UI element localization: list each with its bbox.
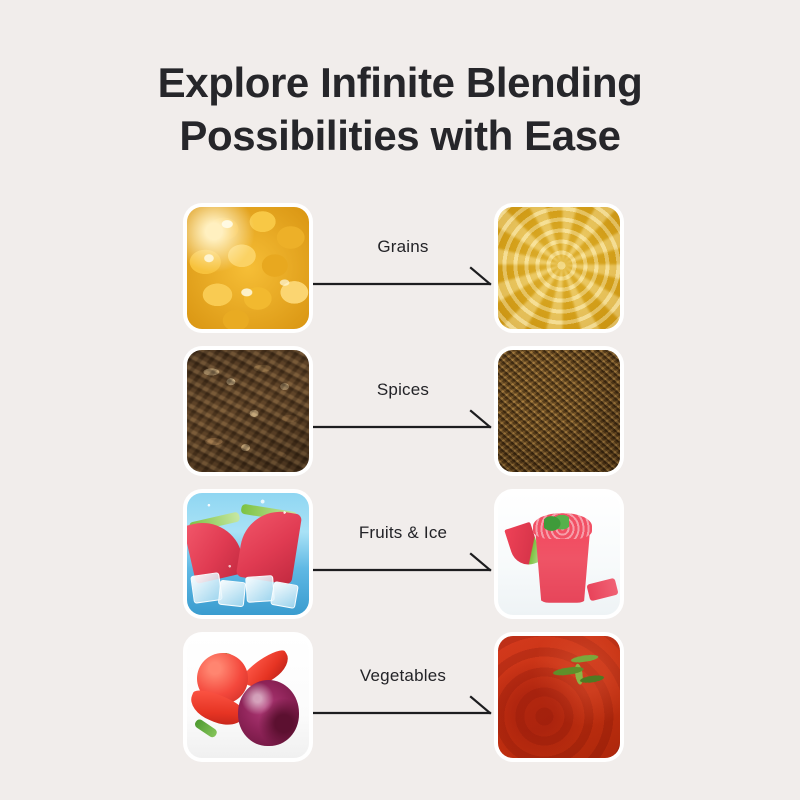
transform-connector: Spices	[313, 350, 493, 472]
watermelon-slush-photo	[498, 493, 620, 615]
row-label-grains: Grains	[313, 237, 493, 257]
ingredient-rows: Grains Spices	[0, 207, 800, 779]
promo-graphic: Explore Infinite Blending Possibilities …	[0, 0, 800, 800]
watermelon-with-ice-photo	[187, 493, 309, 615]
transform-connector: Fruits & Ice	[313, 493, 493, 615]
output-image-watermelon-slush	[498, 493, 620, 615]
output-image-spice-powder	[498, 350, 620, 472]
page-title-line-2: Possibilities with Ease	[0, 109, 800, 162]
ground-spice-powder-photo	[498, 350, 620, 472]
row-label-vegetables: Vegetables	[313, 666, 493, 686]
output-image-corn-flour	[498, 207, 620, 329]
transform-connector: Vegetables	[313, 636, 493, 758]
corn-kernels-photo	[187, 207, 309, 329]
page-title: Explore Infinite Blending Possibilities …	[0, 56, 800, 163]
tomato-chili-onion-photo	[187, 636, 309, 758]
input-image-vegetables	[187, 636, 309, 758]
right-arrow-icon	[313, 408, 493, 434]
row-label-fruits-ice: Fruits & Ice	[313, 523, 493, 543]
tomato-sauce-photo	[498, 636, 620, 758]
right-arrow-icon	[313, 551, 493, 577]
whole-cloves-photo	[187, 350, 309, 472]
right-arrow-icon	[313, 265, 493, 291]
input-image-whole-cloves	[187, 350, 309, 472]
row-label-spices: Spices	[313, 380, 493, 400]
ingredient-row: Grains	[0, 207, 800, 329]
input-image-corn-kernels	[187, 207, 309, 329]
corn-flour-photo	[498, 207, 620, 329]
page-title-line-1: Explore Infinite Blending	[0, 56, 800, 109]
output-image-tomato-sauce	[498, 636, 620, 758]
ingredient-row: Vegetables	[0, 636, 800, 758]
ingredient-row: Spices	[0, 350, 800, 472]
right-arrow-icon	[313, 694, 493, 720]
input-image-watermelon-ice	[187, 493, 309, 615]
transform-connector: Grains	[313, 207, 493, 329]
ingredient-row: Fruits & Ice	[0, 493, 800, 615]
thyme-sprig	[548, 642, 611, 705]
